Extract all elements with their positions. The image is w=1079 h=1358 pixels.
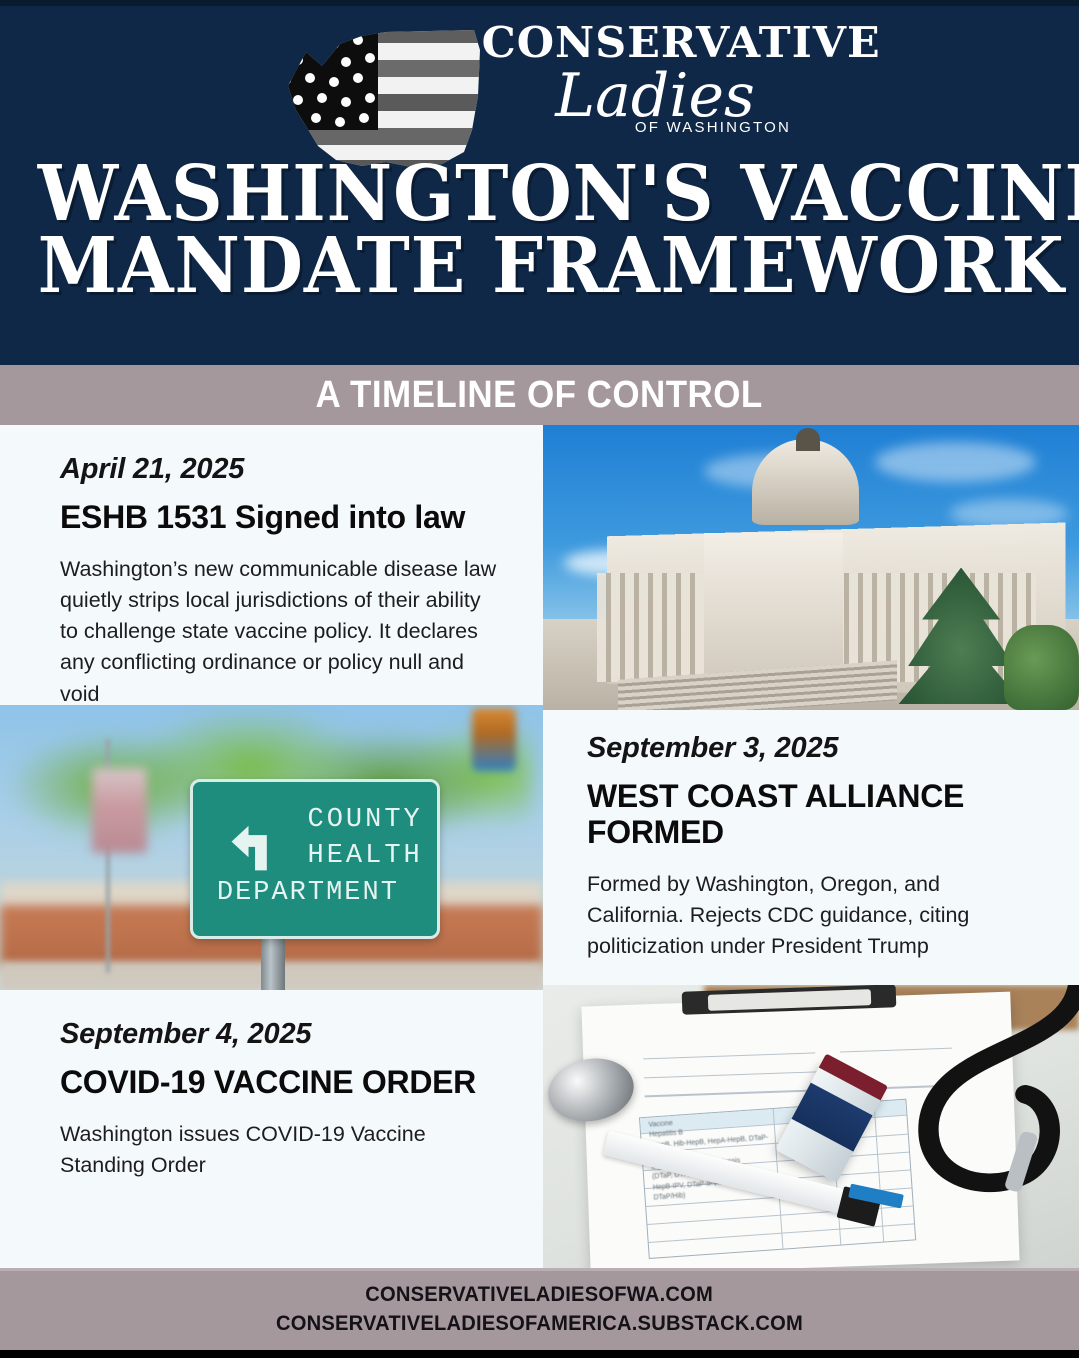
subtitle-text: A TIMELINE OF CONTROL <box>316 374 763 417</box>
entry-1-body: Washington’s new communicable disease la… <box>60 554 501 705</box>
infographic-poster: CONSERVATIVE Ladies OF WASHINGTON WASHIN… <box>0 0 1079 1358</box>
page-title-line-1: WASHINGTON'S VACCINE <box>38 158 1041 230</box>
entry-1-headline: ESHB 1531 Signed into law <box>60 500 501 536</box>
vaccine-record-clipboard-photo: VaccineHepatitis B(HepB, Hib-HepB, HepA-… <box>543 985 1079 1268</box>
sign-line-1: COUNTY <box>193 802 423 838</box>
entry-3-headline: COVID-19 VACCINE ORDER <box>60 1065 501 1101</box>
entry-2-date: September 3, 2025 <box>587 732 1037 765</box>
road-sign: COUNTY HEALTH DEPARTMENT <box>190 779 440 939</box>
entry-2-body: Formed by Washington, Oregon, and Califo… <box>587 869 1037 963</box>
timeline-grid: April 21, 2025 ESHB 1531 Signed into law… <box>0 425 1079 1268</box>
footer-website-substack[interactable]: CONSERVATIVELADIESOFAMERICA.SUBSTACK.COM <box>276 1309 803 1338</box>
poster-footer: CONSERVATIVELADIESOFWA.COM CONSERVATIVEL… <box>0 1268 1079 1350</box>
entry-1-date: April 21, 2025 <box>60 453 501 486</box>
sign-line-2: HEALTH <box>193 838 423 874</box>
timeline-entry-2: September 3, 2025 WEST COAST ALLIANCE FO… <box>543 710 1079 985</box>
entry-3-date: September 4, 2025 <box>60 1018 501 1051</box>
poster-header: CONSERVATIVE Ladies OF WASHINGTON WASHIN… <box>0 0 1079 365</box>
sign-line-3: DEPARTMENT <box>193 875 423 911</box>
page-title: WASHINGTON'S VACCINE MANDATE FRAMEWORK <box>0 158 1079 303</box>
page-title-line-2: MANDATE FRAMEWORK <box>38 230 1041 302</box>
logo-row: CONSERVATIVE Ladies OF WASHINGTON <box>0 8 1079 168</box>
washington-state-capitol-photo <box>543 425 1079 710</box>
traffic-light-icon <box>472 708 515 771</box>
subtitle-bar: A TIMELINE OF CONTROL <box>0 365 1079 425</box>
brand-name-script: Ladies <box>485 66 825 127</box>
county-health-department-sign-photo: COUNTY HEALTH DEPARTMENT <box>0 705 543 990</box>
timeline-entry-1: April 21, 2025 ESHB 1531 Signed into law… <box>0 425 543 705</box>
timeline-entry-3: September 4, 2025 COVID-19 VACCINE ORDER… <box>0 990 543 1268</box>
bottom-bar <box>0 1350 1079 1358</box>
brand-name-top: CONSERVATIVE <box>482 22 829 64</box>
entry-3-body: Washington issues COVID-19 Vaccine Stand… <box>60 1119 501 1181</box>
us-flag-icon <box>92 768 146 854</box>
entry-2-headline: WEST COAST ALLIANCE FORMED <box>587 779 1037 851</box>
footer-website-primary[interactable]: CONSERVATIVELADIESOFWA.COM <box>366 1280 714 1309</box>
brand-subtitle: OF WASHINGTON <box>485 119 825 136</box>
